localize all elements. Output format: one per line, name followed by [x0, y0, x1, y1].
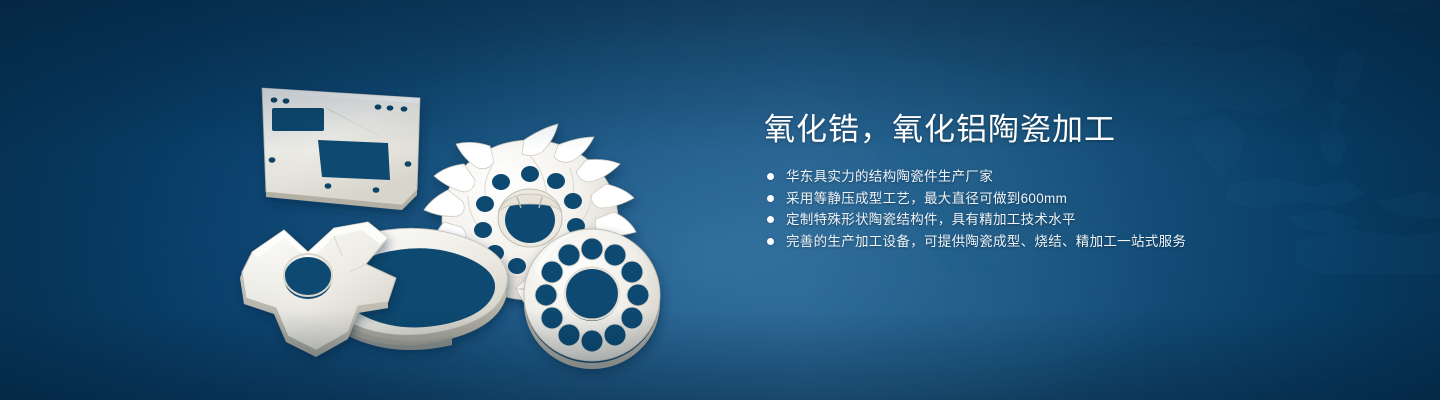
feature-text: 完善的生产加工设备，可提供陶瓷成型、烧结、精加工一站式服务 [786, 231, 1186, 253]
list-item: 定制特殊形状陶瓷结构件，具有精加工技术水平 [764, 209, 1364, 231]
list-item: 完善的生产加工设备，可提供陶瓷成型、烧结、精加工一站式服务 [764, 231, 1364, 253]
ceramic-processing-banner: 氧化锆，氧化铝陶瓷加工 华东具实力的结构陶瓷件生产厂家 采用等静压成型工艺，最大… [0, 0, 1440, 400]
bullet-dot-icon [767, 238, 774, 245]
feature-text: 华东具实力的结构陶瓷件生产厂家 [786, 166, 993, 188]
feature-text: 采用等静压成型工艺，最大直径可做到600mm [786, 188, 1067, 210]
bullet-dot-icon [767, 216, 774, 223]
bullet-dot-icon [767, 173, 774, 180]
list-item: 采用等静压成型工艺，最大直径可做到600mm [764, 188, 1364, 210]
banner-feature-list: 华东具实力的结构陶瓷件生产厂家 采用等静压成型工艺，最大直径可做到600mm 定… [764, 166, 1364, 252]
bullet-dot-icon [767, 195, 774, 202]
feature-text: 定制特殊形状陶瓷结构件，具有精加工技术水平 [786, 209, 1076, 231]
list-item: 华东具实力的结构陶瓷件生产厂家 [764, 166, 1364, 188]
banner-headline: 氧化锆，氧化铝陶瓷加工 [764, 108, 1364, 152]
background-bottom-fade [0, 310, 1440, 400]
banner-copy-block: 氧化锆，氧化铝陶瓷加工 华东具实力的结构陶瓷件生产厂家 采用等静压成型工艺，最大… [764, 108, 1364, 252]
